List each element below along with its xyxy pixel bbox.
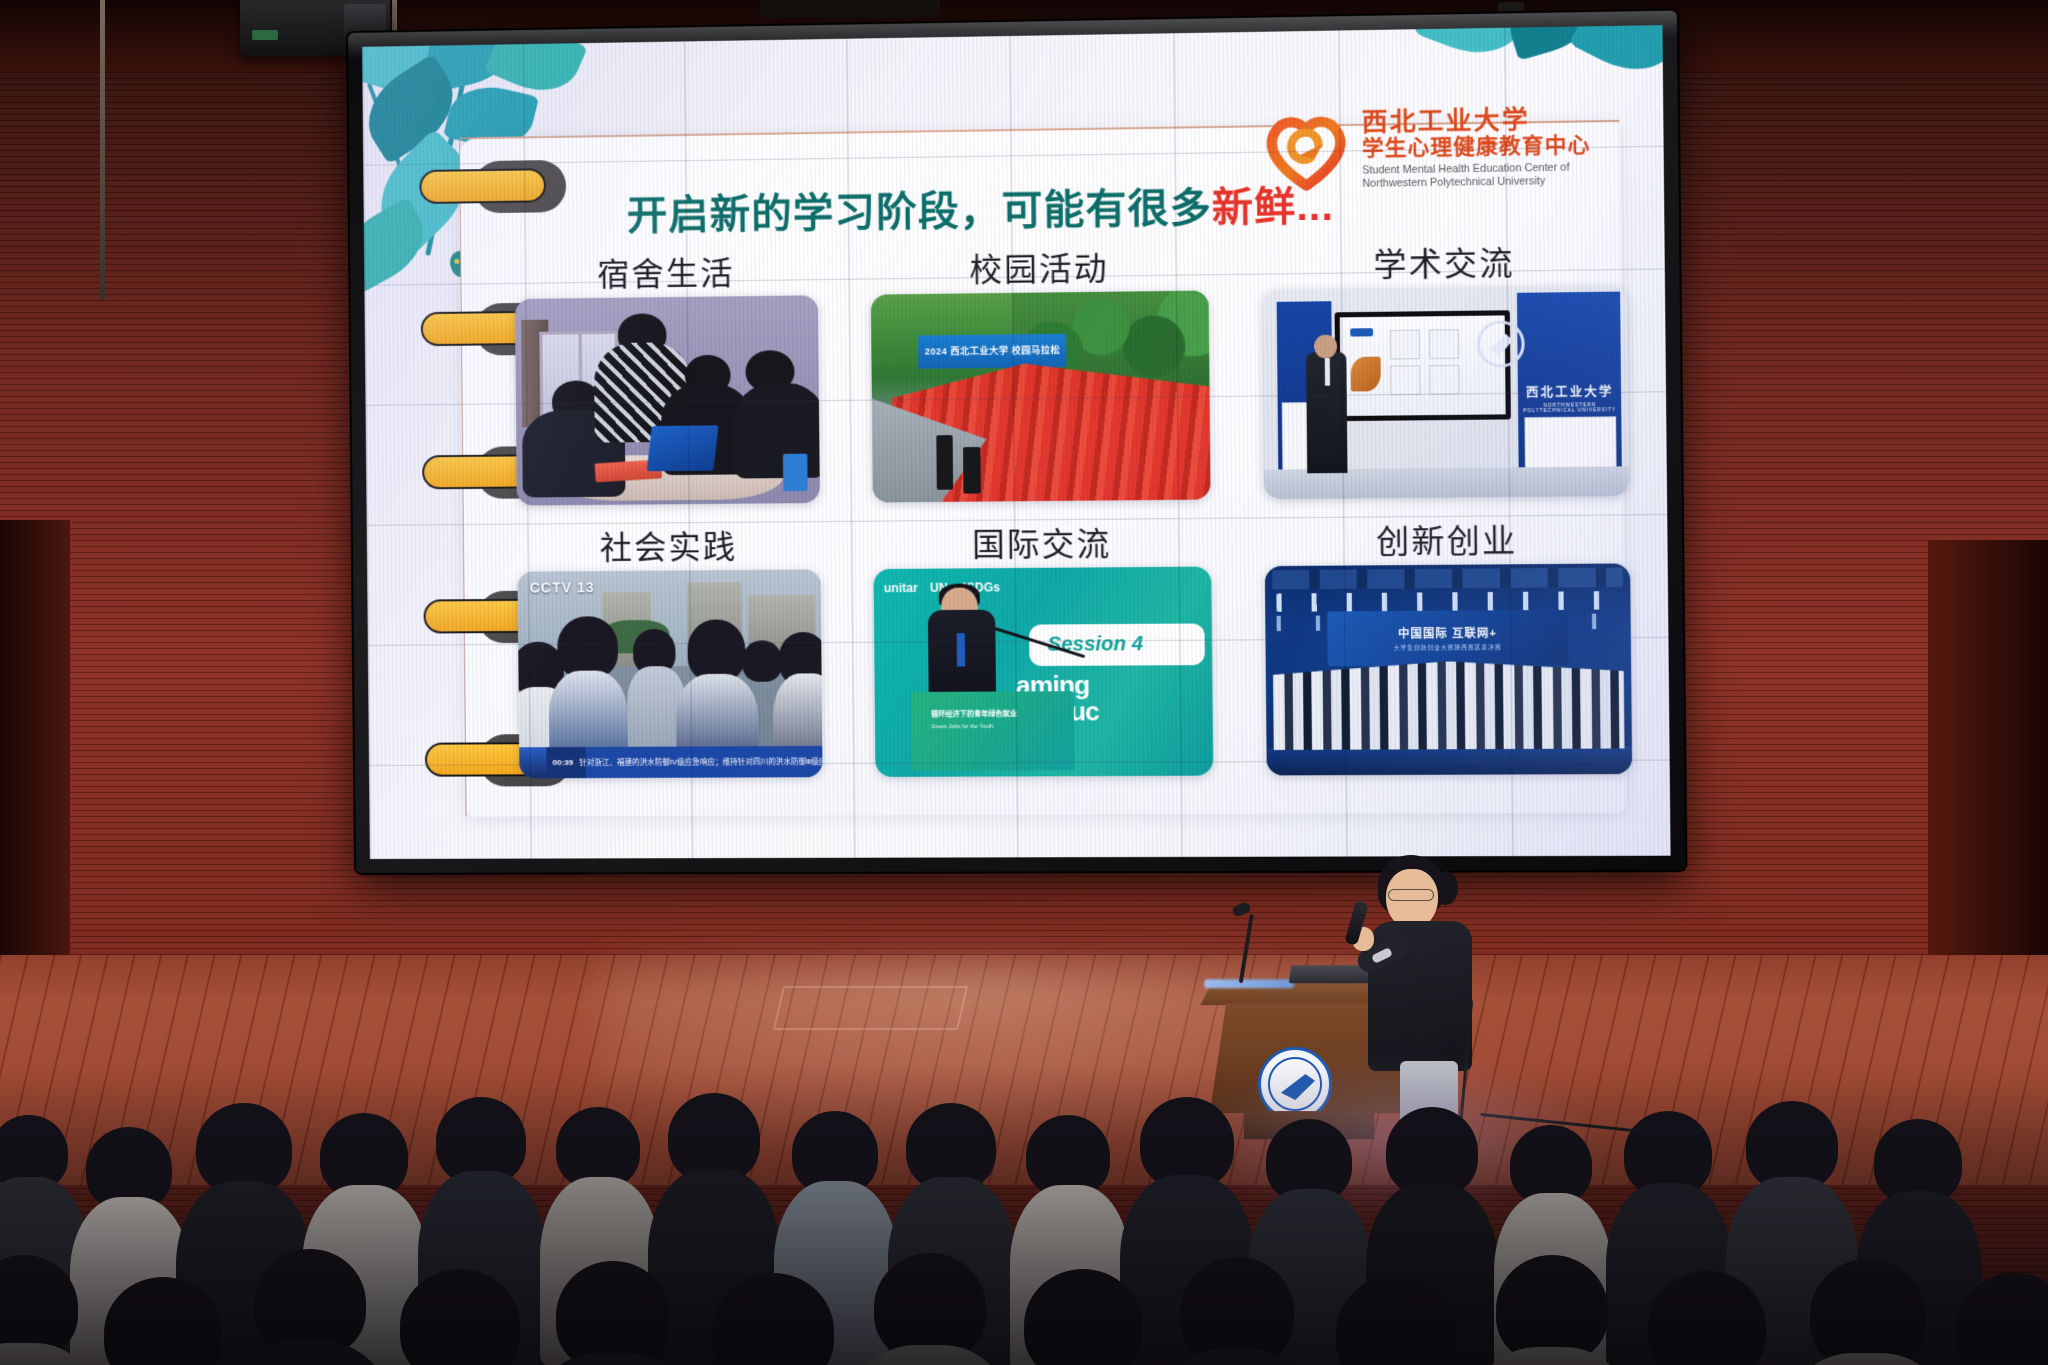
ticker-time: 00:39 (546, 758, 579, 767)
booth-university-name: 西北工业大学 NORTHWESTERN POLYTECHNICAL UNIVER… (1522, 382, 1618, 413)
left-side-wall (0, 520, 70, 960)
cctv-channel-logo: CCTV 13 (530, 579, 595, 596)
session-label: Session 4 (1047, 633, 1143, 657)
podium-cn-text: 循环经济下的青年绿色就业 (931, 708, 1017, 719)
conference-brand-bar: unitar UN 4SDGs (873, 567, 1211, 607)
hanging-rod (100, 0, 105, 300)
logo-university-name: 西北工业大学 (1362, 106, 1591, 136)
auditorium-scene: 开启新的学习阶段，可能有很多新鲜... (0, 0, 2048, 1365)
photo-international-exchange: unitar UN 4SDGs Session 4 aming n Educ (873, 567, 1213, 777)
screen-surface: 开启新的学习阶段，可能有很多新鲜... (362, 25, 1670, 859)
category-label: 社会实践 (517, 521, 821, 570)
photo-innovation: 中国国际 互联网+ 大学生创新创业大赛陕西赛区总决赛 (1265, 563, 1632, 775)
category-label: 校园活动 (870, 242, 1208, 293)
category-label: 创新创业 (1264, 514, 1630, 564)
category-label: 学术交流 (1262, 236, 1628, 288)
presenter-glasses (1388, 889, 1434, 901)
session-bubble: Session 4 (1029, 623, 1205, 666)
marathon-banner: 2024 西北工业大学 校园马拉松 (918, 334, 1067, 369)
slide-title-main: 开启新的学习阶段，可能有很多 (627, 186, 1212, 238)
presentation-slide: 开启新的学习阶段，可能有很多新鲜... (362, 25, 1670, 859)
ceiling-truss (760, 0, 940, 18)
logo-english-line2: Northwestern Polytechnical University (1362, 174, 1591, 191)
podium-en-text: Green Jobs for the Youth (931, 724, 993, 730)
competition-subtitle: 大学生创新创业大赛陕西赛区总决赛 (1394, 643, 1502, 652)
ticker-text: 针对浙江、福建的洪水防御Ⅳ级应急响应；维持针对四川的洪水防御Ⅲ级应急响应 (579, 756, 822, 768)
right-side-wall (1928, 540, 2048, 970)
unitar-brand: unitar (884, 580, 918, 594)
news-ticker: 00:39 针对浙江、福建的洪水防御Ⅳ级应急响应；维持针对四川的洪水防御Ⅲ级应急… (519, 746, 822, 778)
category-label: 国际交流 (873, 518, 1211, 567)
speaker-podium: 循环经济下的青年绿色就业 Green Jobs for the Youth (912, 691, 1075, 771)
projector-label (252, 30, 278, 40)
led-screen: 开启新的学习阶段，可能有很多新鲜... (348, 11, 1685, 873)
category-label: 宿舍生活 (514, 247, 818, 297)
photo-social-practice: CCTV 13 (517, 569, 822, 778)
audience (0, 935, 2048, 1365)
spiral-ring (419, 164, 566, 210)
screen-bezel: 开启新的学习阶段，可能有很多新鲜... (348, 11, 1685, 873)
marathon-banner-text: 2024 西北工业大学 校园马拉松 (925, 345, 1061, 357)
